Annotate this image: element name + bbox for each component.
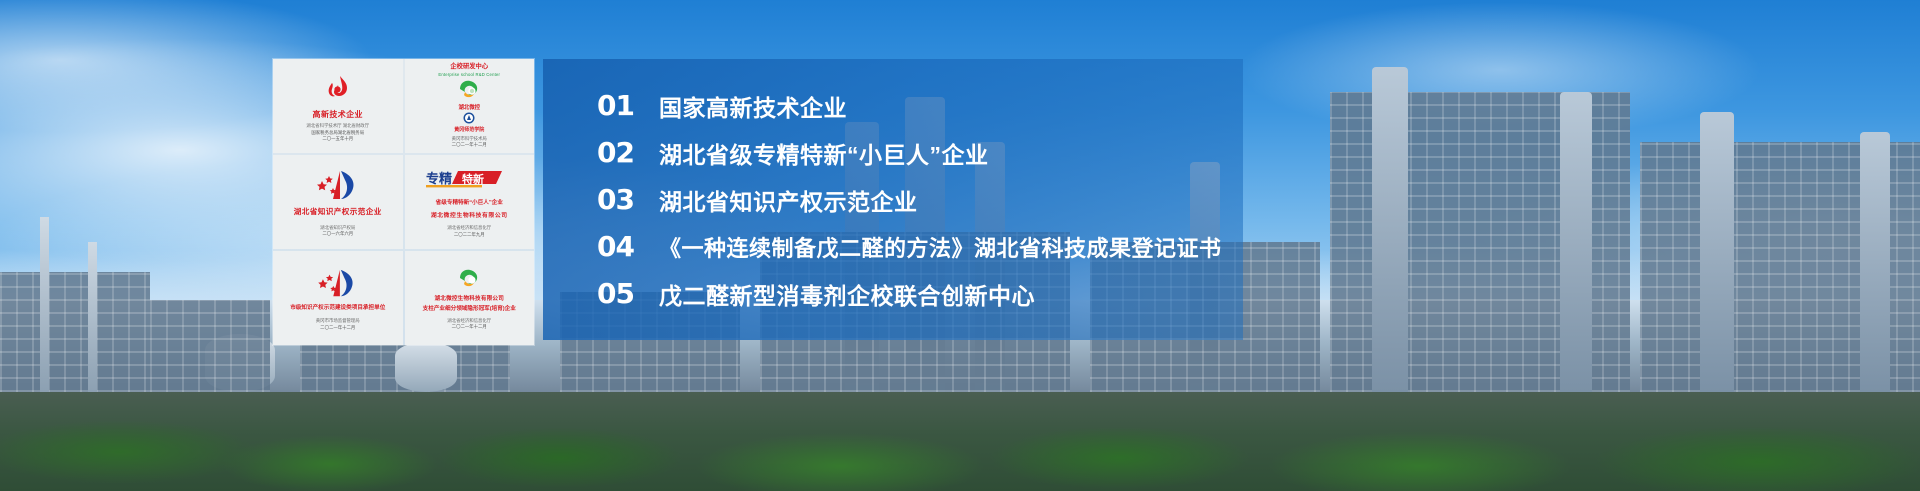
plant-tower-6 <box>1560 92 1592 392</box>
achievement-number: 05 <box>597 280 659 308</box>
achievement-row-01[interactable]: 01 国家高新技术企业 <box>543 82 1243 129</box>
plant-tower-7 <box>1700 112 1734 392</box>
certificate-date: 二〇一六年六月 <box>322 231 353 238</box>
star-sail-icon <box>316 166 360 206</box>
achievement-number: 01 <box>597 92 659 120</box>
enterprise-school-rd-icon <box>456 77 482 102</box>
certificate-card-ip-model[interactable]: 湖北省知识产权示范企业 湖北省知识产权局 二〇一六年六月 <box>273 155 403 249</box>
achievement-row-02[interactable]: 02 湖北省级专精特新“小巨人”企业 <box>543 129 1243 176</box>
achievement-text: 《一种连续制备戊二醛的方法》湖北省科技成果登记证书 <box>659 231 1222 263</box>
plant-tower-5 <box>1372 67 1408 392</box>
achievement-row-04[interactable]: 04 《一种连续制备戊二醛的方法》湖北省科技成果登记证书 <box>543 223 1243 270</box>
certificate-title: 企校研发中心 <box>450 63 488 71</box>
plant-tank-2 <box>395 342 457 392</box>
certificate-card-rd-center[interactable]: 企校研发中心 Enterprise school R&D Center 湖北微控… <box>405 59 535 153</box>
certificate-issuer-1: 湖北省科学技术厅 湖北省财政厅 <box>306 123 369 130</box>
certificate-issuer-1: 黄冈市市场监督管理局 <box>316 318 360 325</box>
achievement-row-05[interactable]: 05 戊二醛新型消毒剂企校联合创新中心 <box>543 270 1243 317</box>
certificate-org-2: 黄冈师范学院 <box>454 126 484 133</box>
achievement-text: 湖北省知识产权示范企业 <box>659 183 918 217</box>
certificate-card-ip-project[interactable]: 市级知识产权示范建设类项目承担单位 黄冈市市场监督管理局 二〇二一年十二月 <box>273 251 403 345</box>
plant-structure-2 <box>150 300 270 392</box>
certificate-date: 二〇二一年十二月 <box>452 324 487 331</box>
achievement-number: 02 <box>597 139 659 167</box>
achievement-number: 04 <box>597 233 659 261</box>
certificate-org-2: 湖北微控生物科技有限公司 <box>431 210 508 219</box>
banner-stage: 高新技术企业 湖北省科学技术厅 湖北省财政厅 国家税务总局湖北省税务局 二〇一五… <box>0 0 1920 491</box>
certificate-org: 湖北微控 <box>458 103 480 111</box>
certificate-title: 市级知识产权示范建设类项目承担单位 <box>290 305 385 312</box>
certificate-issuer-1: 湖北省经济和信息化厅 <box>447 225 491 232</box>
plant-stack-2 <box>88 242 97 392</box>
certificate-date: 二〇一五年十月 <box>322 136 353 143</box>
certificate-date: 二〇二一年十二月 <box>320 325 355 332</box>
certificate-org-2: 湖北微控生物科技有限公司 <box>434 294 504 302</box>
flame-emblem-icon <box>323 69 353 109</box>
certificate-card-specialized-new[interactable]: 专精 特新 省级专精特新“小巨人”企业 湖北微控生物科技有限公司 湖北省经济和信… <box>405 155 535 249</box>
achievement-number: 03 <box>597 186 659 214</box>
green-leaf-icon <box>456 265 482 291</box>
certificate-title: 高新技术企业 <box>313 110 363 120</box>
certificate-title: 支柱产业细分领域隐形冠军(培育)企业 <box>423 306 516 313</box>
university-seal-icon <box>463 111 475 123</box>
plant-stack-1 <box>40 217 49 392</box>
achievements-panel: 01 国家高新技术企业 02 湖北省级专精特新“小巨人”企业 03 湖北省知识产… <box>543 59 1243 340</box>
plant-tower-8 <box>1860 132 1890 392</box>
certificates-grid: 高新技术企业 湖北省科学技术厅 湖北省财政厅 国家税务总局湖北省税务局 二〇一五… <box>273 59 534 345</box>
achievement-text: 戊二醛新型消毒剂企校联合创新中心 <box>659 277 1035 311</box>
plant-structure-left <box>0 272 150 392</box>
certificate-org: 省级专精特新“小巨人”企业 <box>436 198 503 206</box>
svg-text:特新: 特新 <box>462 172 484 186</box>
achievement-text: 湖北省级专精特新“小巨人”企业 <box>659 136 989 170</box>
certificate-card-hidden-champion[interactable]: 湖北微控生物科技有限公司 支柱产业细分领域隐形冠军(培育)企业 湖北省经济和信息… <box>405 251 535 345</box>
zhuanjingtexin-badge-icon: 专精 特新 <box>426 166 512 196</box>
certificate-date: 二〇二一年十二月 <box>452 142 487 149</box>
certificate-card-gaoxin[interactable]: 高新技术企业 湖北省科学技术厅 湖北省财政厅 国家税务总局湖北省税务局 二〇一五… <box>273 59 403 153</box>
svg-text:专精: 专精 <box>426 171 452 186</box>
certificate-date: 二〇二二年九月 <box>454 232 485 239</box>
achievement-text: 国家高新技术企业 <box>659 89 847 123</box>
achievement-row-03[interactable]: 03 湖北省知识产权示范企业 <box>543 176 1243 223</box>
star-sail-icon <box>317 264 359 304</box>
foreground-greenery <box>0 392 1920 491</box>
certificate-title: 湖北省知识产权示范企业 <box>294 207 382 216</box>
